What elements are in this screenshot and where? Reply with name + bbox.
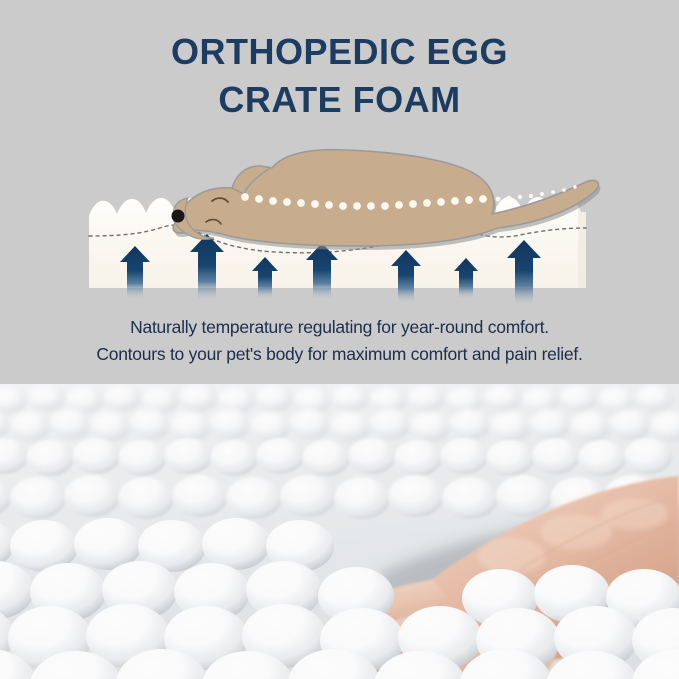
feature-line-2: Contours to your pet's body for maximum … <box>0 341 679 368</box>
dog-on-foam-illustration <box>0 128 679 308</box>
headline-line-1: ORTHOPEDIC EGG <box>0 28 679 76</box>
headline-line-2: CRATE FOAM <box>0 76 679 124</box>
photo-tone-overlay <box>0 384 679 679</box>
feature-description: Naturally temperature regulating for yea… <box>0 314 679 367</box>
foam-closeup-photo <box>0 384 679 679</box>
top-info-panel: ORTHOPEDIC EGG CRATE FOAM <box>0 0 679 384</box>
product-infographic: ORTHOPEDIC EGG CRATE FOAM <box>0 0 679 679</box>
photo-content <box>0 384 679 679</box>
dog-nose <box>172 210 185 223</box>
feature-line-1: Naturally temperature regulating for yea… <box>0 314 679 341</box>
page-title: ORTHOPEDIC EGG CRATE FOAM <box>0 28 679 123</box>
